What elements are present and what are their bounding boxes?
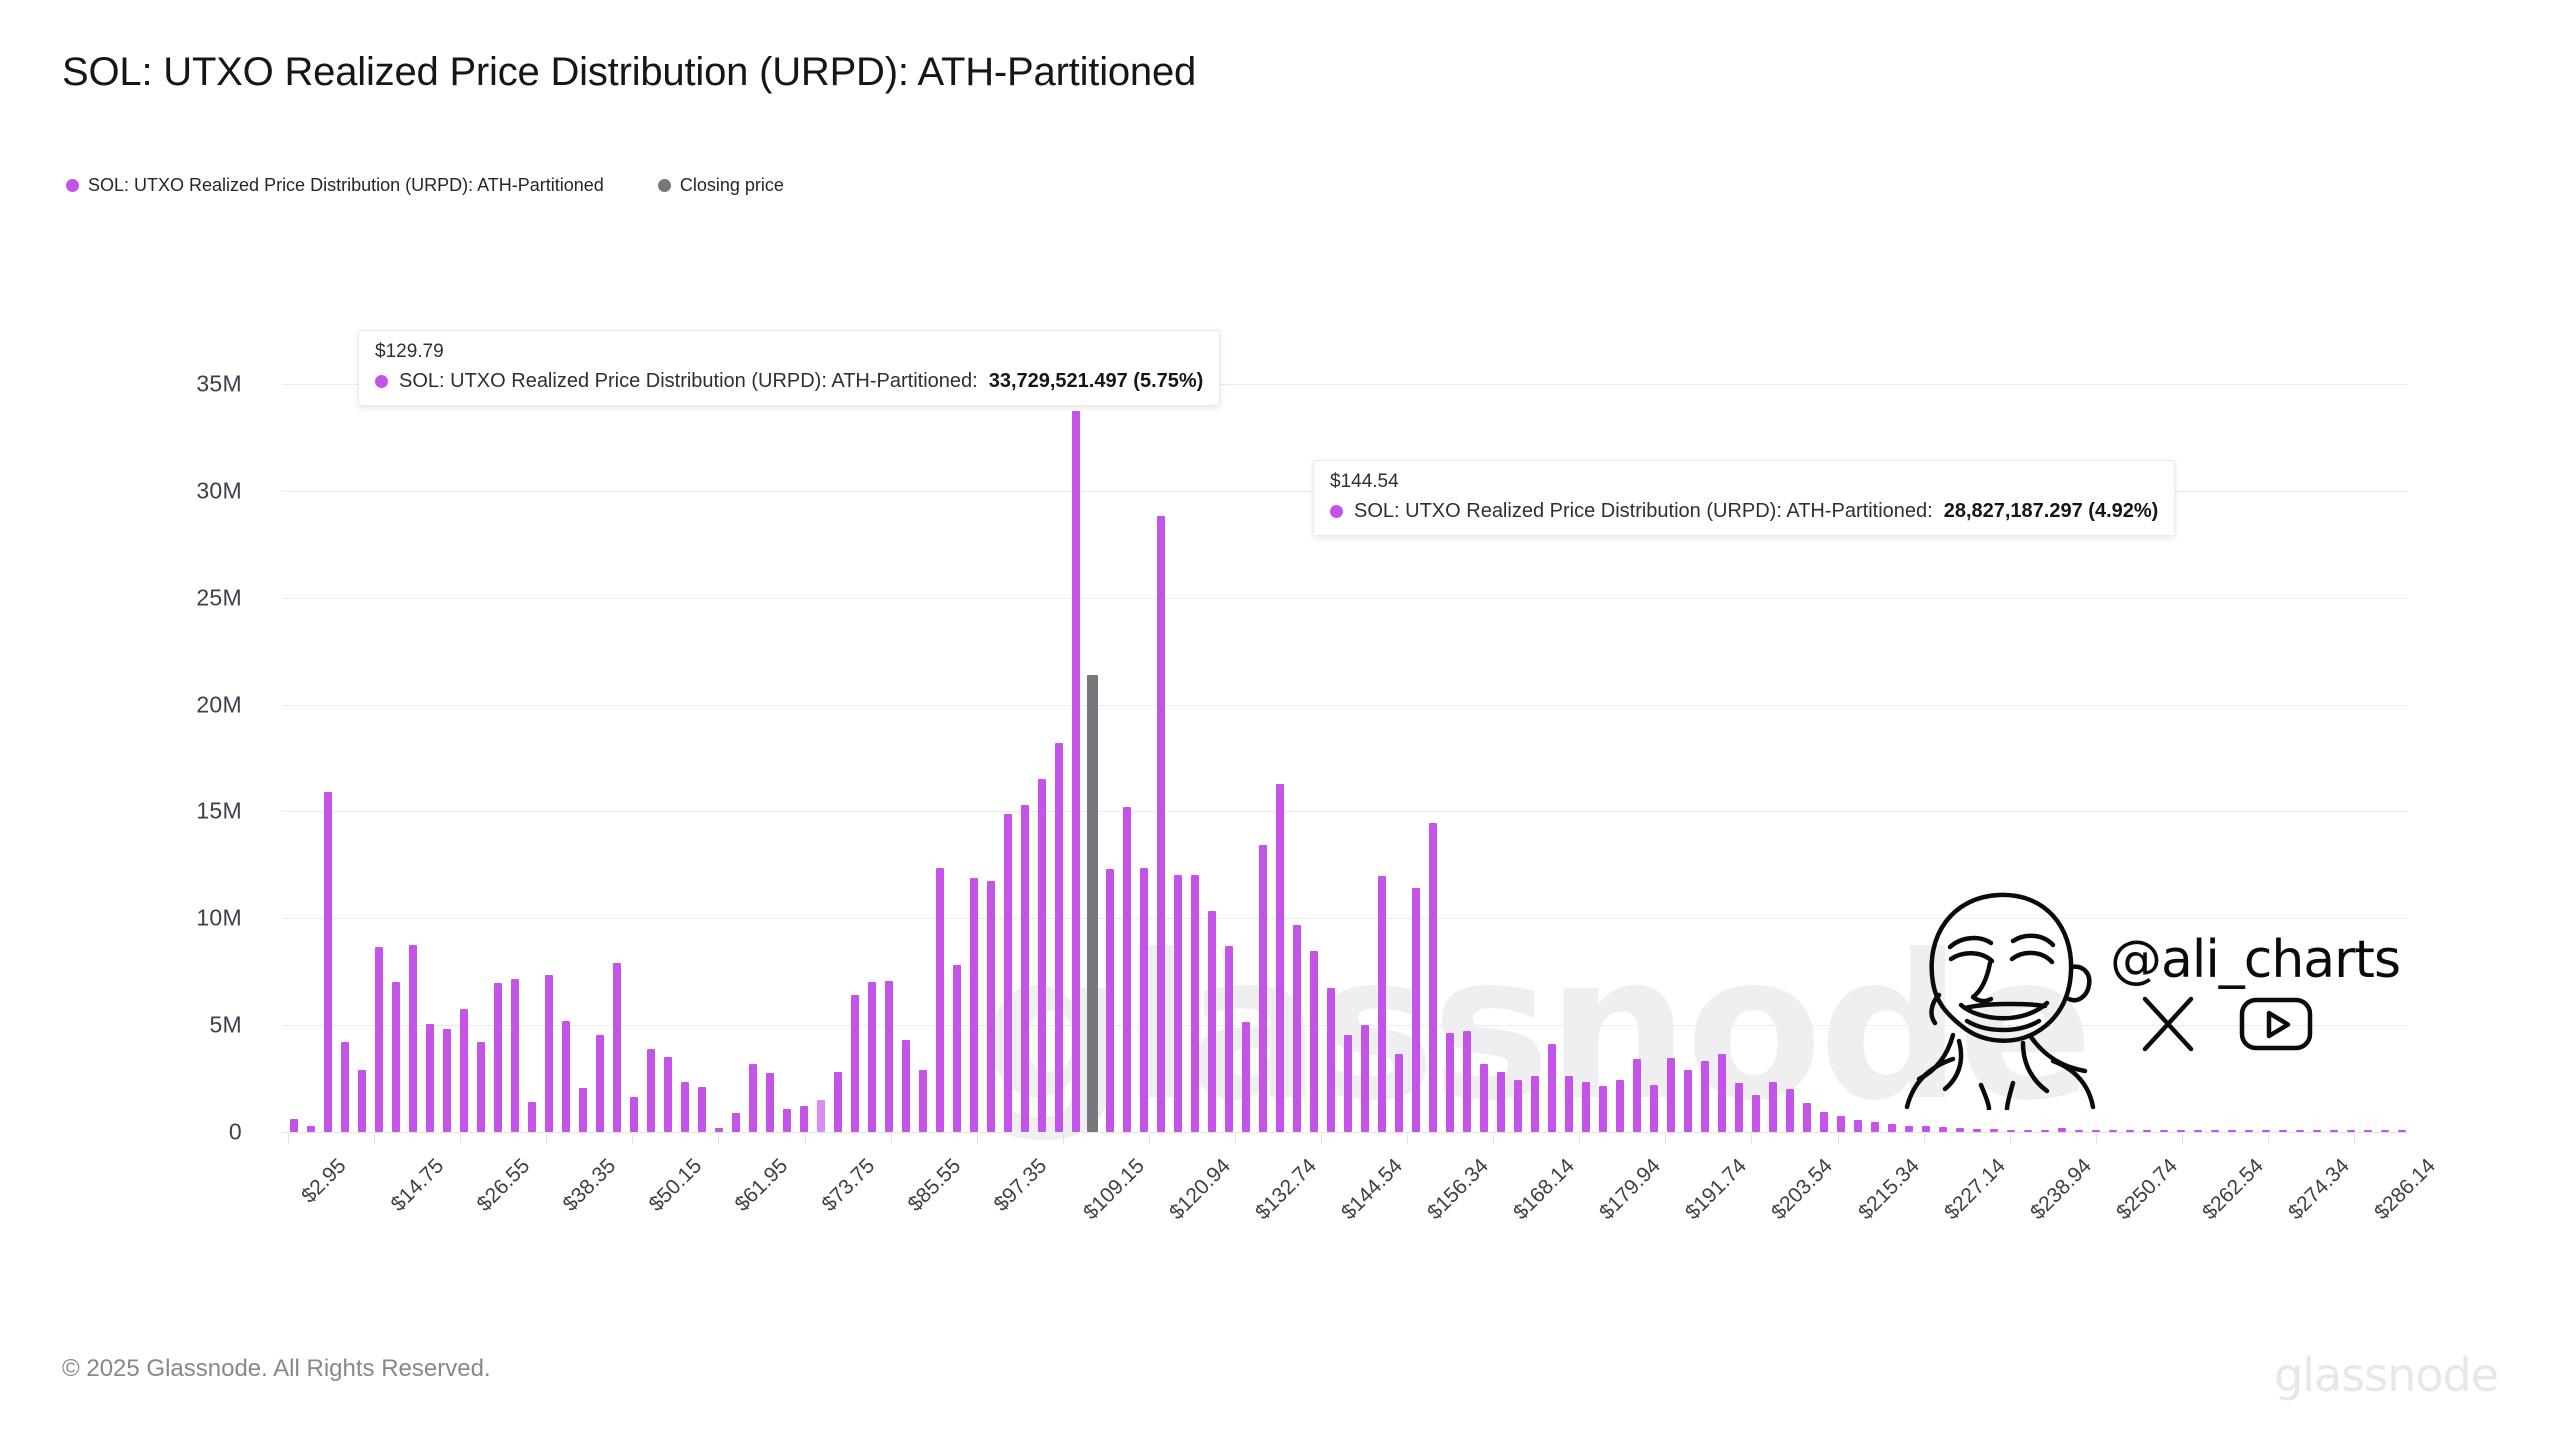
x-axis-tick-mark — [2010, 1134, 2011, 1144]
y-axis-tick-label: 35M — [196, 371, 242, 398]
y-axis-tick-label: 5M — [209, 1012, 242, 1039]
x-axis-tick-label: $85.55 — [903, 1154, 965, 1216]
x-axis-tick-mark — [1838, 1134, 1839, 1144]
bar[interactable] — [1616, 1080, 1624, 1132]
x-axis-tick-mark — [2182, 1134, 2183, 1144]
bar[interactable] — [494, 983, 502, 1132]
bar[interactable] — [579, 1088, 587, 1132]
bar[interactable] — [2143, 1130, 2151, 1132]
bar[interactable] — [1820, 1112, 1828, 1132]
x-axis-tick-label: $191.74 — [1681, 1154, 1752, 1225]
x-logo-icon[interactable] — [2140, 995, 2196, 1053]
bar[interactable] — [1191, 875, 1199, 1133]
bar[interactable] — [1531, 1076, 1539, 1132]
bar[interactable] — [1973, 1129, 1981, 1132]
y-axis-tick-label: 0 — [229, 1119, 242, 1146]
bar[interactable] — [1378, 876, 1386, 1132]
bar[interactable] — [1514, 1080, 1522, 1132]
bar[interactable] — [1871, 1122, 1879, 1132]
bar[interactable] — [1021, 805, 1029, 1132]
legend-item-label: SOL: UTXO Realized Price Distribution (U… — [88, 175, 604, 196]
bar[interactable] — [562, 1021, 570, 1132]
bar[interactable] — [2279, 1130, 2287, 1132]
bar[interactable] — [1055, 743, 1063, 1132]
bar[interactable] — [460, 1009, 468, 1132]
x-axis-tick-mark — [1149, 1134, 1150, 1144]
bar[interactable] — [1888, 1124, 1896, 1132]
bar[interactable] — [1633, 1059, 1641, 1132]
x-axis-tick-label: $144.54 — [1337, 1154, 1408, 1225]
x-axis-tick-mark — [1235, 1134, 1236, 1144]
x-axis-tick-label: $156.34 — [1423, 1154, 1494, 1225]
tooltip-price: $129.79 — [375, 341, 1203, 363]
bar[interactable] — [392, 982, 400, 1132]
tooltip-value: 28,827,187.297 (4.92%) — [1944, 500, 2159, 523]
bar[interactable] — [2194, 1130, 2202, 1132]
bar[interactable] — [1786, 1089, 1794, 1132]
tooltip-row: SOL: UTXO Realized Price Distribution (U… — [375, 370, 1203, 393]
bar[interactable] — [358, 1070, 366, 1132]
bar[interactable] — [1174, 875, 1182, 1133]
bar[interactable] — [1004, 814, 1012, 1132]
bar[interactable] — [1735, 1083, 1743, 1132]
x-axis-tick-label: $97.35 — [989, 1154, 1051, 1216]
bar[interactable] — [817, 1100, 825, 1132]
bar[interactable] — [2364, 1130, 2372, 1132]
bar[interactable] — [1922, 1126, 1930, 1132]
bar[interactable] — [1565, 1076, 1573, 1132]
x-axis-tick-label: $120.94 — [1165, 1154, 1236, 1225]
x-axis-tick-label: $203.54 — [1767, 1154, 1838, 1225]
bar[interactable] — [2245, 1130, 2253, 1132]
bar[interactable] — [2075, 1130, 2083, 1132]
y-axis: 05M10M15M20M25M30M35M — [0, 352, 282, 1132]
bar[interactable] — [970, 878, 978, 1132]
bar[interactable] — [290, 1119, 298, 1132]
bar[interactable] — [1497, 1072, 1505, 1132]
tooltip-series-name: SOL: UTXO Realized Price Distribution (U… — [1354, 500, 1933, 523]
chart-page: SOL: UTXO Realized Price Distribution (U… — [0, 0, 2560, 1440]
bar[interactable] — [1582, 1082, 1590, 1132]
bar[interactable] — [1905, 1126, 1913, 1132]
x-axis: $2.95$14.75$26.55$38.35$50.15$61.95$73.7… — [282, 1134, 2408, 1334]
x-axis-tick-mark — [891, 1134, 892, 1144]
bar[interactable] — [375, 947, 383, 1132]
bar[interactable] — [800, 1106, 808, 1132]
bar[interactable] — [1259, 845, 1267, 1132]
bar[interactable] — [477, 1042, 485, 1132]
legend-item-closing-price[interactable]: Closing price — [658, 175, 784, 196]
bar[interactable] — [1106, 869, 1114, 1132]
bar[interactable] — [1429, 823, 1437, 1132]
y-axis-tick-label: 20M — [196, 691, 242, 718]
bar[interactable] — [1803, 1103, 1811, 1132]
x-axis-tick-label: $61.95 — [731, 1154, 793, 1216]
x-axis-tick-label: $250.74 — [2112, 1154, 2183, 1225]
legend-item-urpd[interactable]: SOL: UTXO Realized Price Distribution (U… — [66, 175, 604, 196]
bar[interactable] — [545, 975, 553, 1132]
x-axis-tick-label: $132.74 — [1251, 1154, 1322, 1225]
x-axis-tick-label: $73.75 — [817, 1154, 879, 1216]
x-axis-tick-mark — [1579, 1134, 1580, 1144]
bar[interactable] — [834, 1072, 842, 1132]
bar[interactable] — [1140, 868, 1148, 1132]
bar[interactable] — [766, 1073, 774, 1132]
x-axis-tick-label: $262.54 — [2198, 1154, 2269, 1225]
x-axis-tick-label: $2.95 — [297, 1154, 351, 1208]
branding-overlay: @ali_charts — [1895, 875, 2455, 1115]
bar[interactable] — [2347, 1130, 2355, 1132]
x-axis-tick-mark — [2096, 1134, 2097, 1144]
x-axis-tick-mark — [374, 1134, 375, 1144]
tooltip-price: $144.54 — [1330, 471, 2158, 493]
bar[interactable] — [2398, 1130, 2406, 1132]
bar[interactable] — [1667, 1058, 1675, 1132]
bar[interactable] — [1956, 1128, 1964, 1132]
bar[interactable] — [1225, 946, 1233, 1132]
bar[interactable] — [987, 881, 995, 1132]
bar[interactable] — [630, 1097, 638, 1132]
legend-dot-icon — [66, 179, 79, 192]
bar[interactable] — [953, 965, 961, 1132]
tooltip-dot-icon — [375, 375, 388, 388]
bar[interactable] — [1157, 516, 1165, 1132]
bar[interactable] — [1548, 1044, 1556, 1132]
bar[interactable] — [2177, 1130, 2185, 1132]
bar[interactable] — [409, 945, 417, 1132]
bar[interactable] — [1684, 1070, 1692, 1132]
bar[interactable] — [1480, 1064, 1488, 1132]
x-axis-tick-label: $50.15 — [645, 1154, 707, 1216]
bar[interactable] — [919, 1070, 927, 1132]
x-axis-tick-label: $286.14 — [2370, 1154, 2441, 1225]
bar[interactable] — [783, 1109, 791, 1133]
bar[interactable] — [1599, 1086, 1607, 1132]
x-axis-tick-mark — [2268, 1134, 2269, 1144]
bar[interactable] — [902, 1040, 910, 1132]
bar[interactable] — [1293, 925, 1301, 1132]
bar[interactable] — [698, 1087, 706, 1132]
x-axis-tick-label: $227.14 — [1940, 1154, 2011, 1225]
x-axis-tick-label: $109.15 — [1079, 1154, 1150, 1225]
bar[interactable] — [749, 1064, 757, 1132]
bar[interactable] — [426, 1024, 434, 1132]
bar[interactable] — [1123, 807, 1131, 1132]
bar[interactable] — [1310, 951, 1318, 1132]
brand-handle: @ali_charts — [2110, 930, 2400, 990]
y-axis-tick-label: 10M — [196, 905, 242, 932]
y-axis-tick-label: 25M — [196, 584, 242, 611]
x-axis-tick-mark — [1321, 1134, 1322, 1144]
bar[interactable] — [2262, 1130, 2270, 1132]
x-axis-tick-mark — [460, 1134, 461, 1144]
bar[interactable] — [1650, 1085, 1658, 1132]
bar[interactable] — [885, 981, 893, 1132]
x-axis-tick-mark — [1493, 1134, 1494, 1144]
bar[interactable] — [1361, 1025, 1369, 1132]
x-axis-tick-mark — [632, 1134, 633, 1144]
bar[interactable] — [511, 979, 519, 1132]
bar[interactable] — [2313, 1130, 2321, 1132]
x-axis-tick-mark — [288, 1134, 289, 1144]
bar[interactable] — [1242, 1022, 1250, 1132]
bar[interactable] — [936, 868, 944, 1132]
bar[interactable] — [681, 1082, 689, 1132]
x-axis-tick-mark — [546, 1134, 547, 1144]
bar[interactable] — [613, 963, 621, 1132]
bar[interactable] — [1990, 1129, 1998, 1132]
bar[interactable] — [1752, 1095, 1760, 1132]
x-axis-tick-mark — [977, 1134, 978, 1144]
bar[interactable] — [1854, 1120, 1862, 1132]
footer-glassnode-logo: glassnode — [2274, 1348, 2498, 1402]
x-axis-tick-label: $274.34 — [2284, 1154, 2355, 1225]
x-axis-tick-label: $215.34 — [1853, 1154, 1924, 1225]
bar[interactable] — [715, 1128, 723, 1132]
bar[interactable] — [443, 1029, 451, 1132]
bar[interactable] — [324, 792, 332, 1132]
x-axis-tick-mark — [1063, 1134, 1064, 1144]
bar[interactable] — [2330, 1130, 2338, 1132]
bar[interactable] — [1837, 1116, 1845, 1132]
bar[interactable] — [2092, 1130, 2100, 1132]
x-axis-tick-mark — [1751, 1134, 1752, 1144]
bar[interactable] — [2296, 1130, 2304, 1132]
brand-social-icons — [2140, 995, 2314, 1053]
tooltip-dot-icon — [1330, 505, 1343, 518]
bar[interactable] — [647, 1049, 655, 1132]
y-axis-tick-label: 30M — [196, 477, 242, 504]
bar[interactable] — [1327, 988, 1335, 1132]
bar[interactable] — [2109, 1130, 2117, 1132]
bar[interactable] — [1395, 1054, 1403, 1132]
bar[interactable] — [1038, 779, 1046, 1132]
x-axis-tick-label: $14.75 — [387, 1154, 449, 1216]
ali-avatar-icon — [1895, 875, 2110, 1110]
bar[interactable] — [341, 1042, 349, 1132]
chart-legend: SOL: UTXO Realized Price Distribution (U… — [66, 175, 784, 196]
x-axis-tick-label: $26.55 — [473, 1154, 535, 1216]
bar[interactable] — [307, 1126, 315, 1132]
bar[interactable] — [868, 982, 876, 1132]
bar[interactable] — [1072, 411, 1080, 1132]
x-axis-tick-mark — [1665, 1134, 1666, 1144]
x-axis-tick-mark — [1924, 1134, 1925, 1144]
bar[interactable] — [1939, 1127, 1947, 1132]
legend-dot-icon — [658, 179, 671, 192]
y-axis-tick-label: 15M — [196, 798, 242, 825]
bar[interactable] — [732, 1113, 740, 1132]
bar[interactable] — [664, 1057, 672, 1132]
bar[interactable] — [2007, 1130, 2015, 1132]
bar[interactable] — [1344, 1035, 1352, 1132]
tooltip-row: SOL: UTXO Realized Price Distribution (U… — [1330, 500, 2158, 523]
bar[interactable] — [1718, 1054, 1726, 1132]
youtube-icon[interactable] — [2238, 995, 2314, 1053]
bar[interactable] — [1446, 1033, 1454, 1132]
tooltip-peak-144: $144.54 SOL: UTXO Realized Price Distrib… — [1313, 460, 2175, 536]
bar[interactable] — [851, 995, 859, 1132]
bar[interactable] — [2381, 1130, 2389, 1132]
tooltip-value: 33,729,521.497 (5.75%) — [989, 370, 1204, 393]
bar[interactable] — [2058, 1128, 2066, 1132]
x-axis-tick-label: $179.94 — [1595, 1154, 1666, 1225]
bar[interactable] — [1769, 1082, 1777, 1132]
bar[interactable] — [528, 1102, 536, 1132]
bar[interactable] — [2211, 1130, 2219, 1132]
legend-item-label: Closing price — [680, 175, 784, 196]
x-axis-tick-mark — [805, 1134, 806, 1144]
bar[interactable] — [596, 1035, 604, 1132]
bar[interactable] — [2228, 1130, 2236, 1132]
bar[interactable] — [1701, 1061, 1709, 1132]
page-title: SOL: UTXO Realized Price Distribution (U… — [62, 50, 1196, 95]
bar[interactable] — [2041, 1130, 2049, 1132]
bar[interactable] — [2024, 1130, 2032, 1132]
x-axis-tick-label: $38.35 — [559, 1154, 621, 1216]
tooltip-peak-129: $129.79 SOL: UTXO Realized Price Distrib… — [358, 330, 1220, 406]
footer-copyright: © 2025 Glassnode. All Rights Reserved. — [62, 1355, 491, 1383]
x-axis-tick-label: $168.14 — [1509, 1154, 1580, 1225]
bar[interactable] — [2126, 1130, 2134, 1132]
x-axis-tick-mark — [2354, 1134, 2355, 1144]
x-axis-tick-label: $238.94 — [2026, 1154, 2097, 1225]
bar[interactable] — [1208, 911, 1216, 1132]
bar[interactable] — [2160, 1130, 2168, 1132]
x-axis-tick-mark — [718, 1134, 719, 1144]
bar[interactable] — [1412, 888, 1420, 1132]
bar[interactable] — [1463, 1031, 1471, 1133]
tooltip-series-name: SOL: UTXO Realized Price Distribution (U… — [399, 370, 978, 393]
bar[interactable] — [1276, 784, 1284, 1132]
x-axis-tick-mark — [1407, 1134, 1408, 1144]
closing-price-bar[interactable] — [1087, 675, 1098, 1132]
